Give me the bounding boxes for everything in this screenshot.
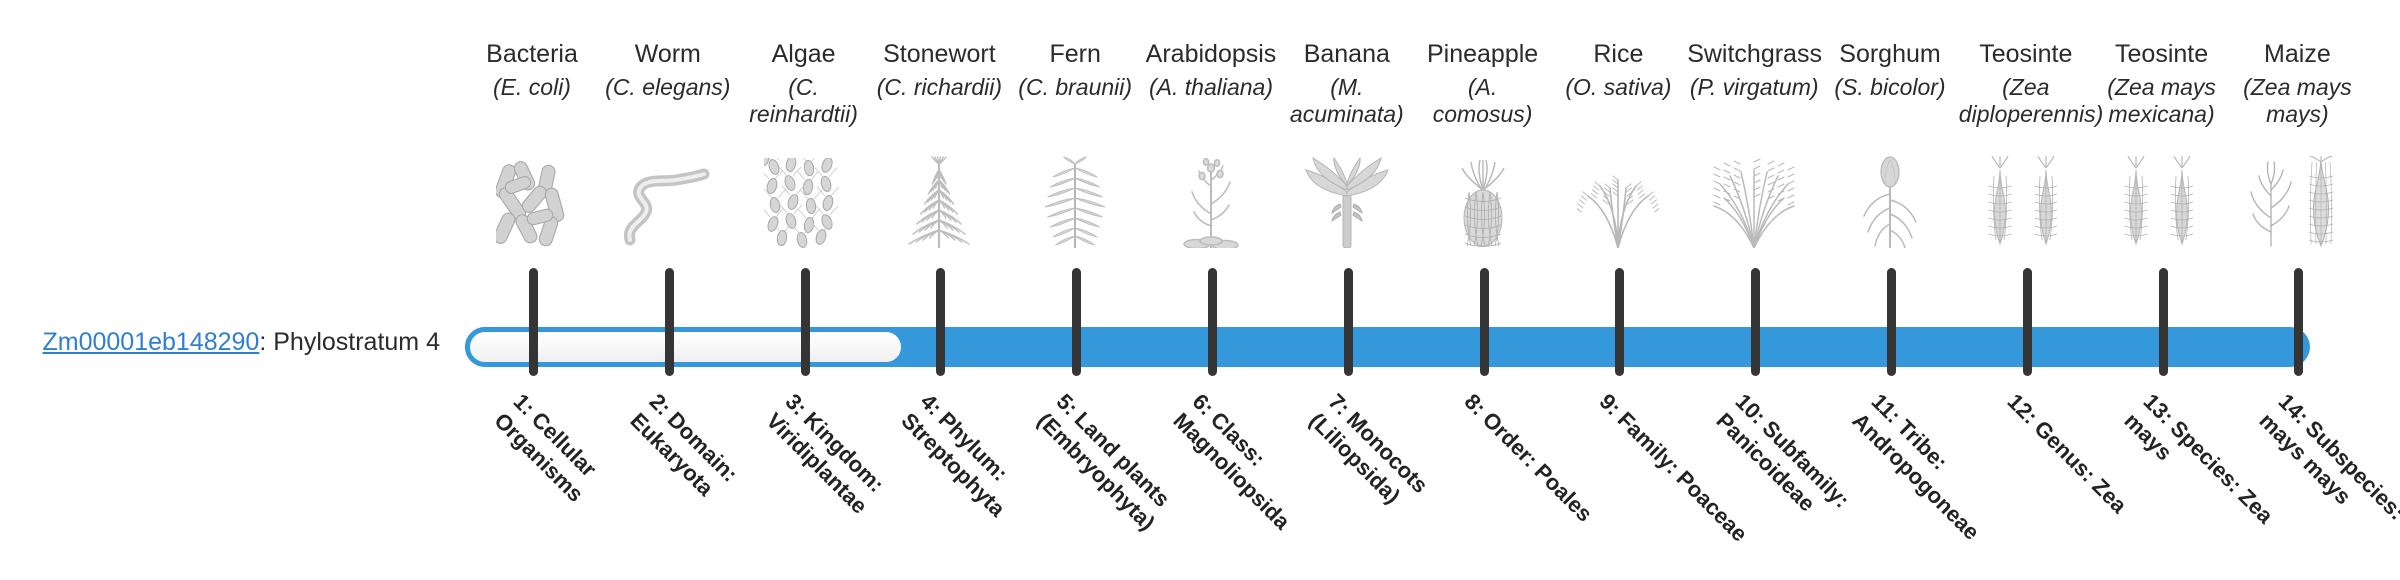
stonewort-icon [872,158,1006,248]
rice-plant-icon [1551,158,1685,248]
teosinte-ears-icon [1959,158,2093,248]
phylostratum-tick-3[interactable] [801,268,810,376]
organism-scientific-name: (O. sativa) [1551,74,1685,101]
phylostratum-tick-12[interactable] [2023,268,2032,376]
maize-ear-icon [2230,158,2364,248]
sorghum-icon [1823,158,1957,248]
organism-scientific-name: (P. virgatum) [1687,74,1821,101]
phylostratum-column-9: Rice(O. sativa) 9: Family: Poaceae [1551,0,1685,580]
fern-frond-icon [1008,158,1142,248]
organism-scientific-name: (A. comosus) [1416,74,1550,128]
gene-label-separator: : [259,328,273,356]
phylostratum-column-10: Switchgrass(P. virgatum) 10: Subfamily: … [1687,0,1821,580]
organism-common-name: Stonewort [872,40,1006,69]
phylostratum-tick-11[interactable] [1887,268,1896,376]
organism-common-name: Teosinte [1959,40,2093,69]
phylostratum-tick-7[interactable] [1344,268,1353,376]
phylostratum-tick-8[interactable] [1480,268,1489,376]
organism-scientific-name: (S. bicolor) [1823,74,1957,101]
organism-common-name: Sorghum [1823,40,1957,69]
gene-id-link[interactable]: Zm00001eb148290 [42,328,259,356]
phylostratum-tick-2[interactable] [665,268,674,376]
organism-scientific-name: (C. reinhardtii) [737,74,871,128]
phylostratum-tick-14[interactable] [2294,268,2303,376]
phylostratum-tick-5[interactable] [1072,268,1081,376]
phylostratum-column-3: Algae(C. reinhardtii) 3: Kingdom: Viridi… [737,0,871,580]
organism-scientific-name: (Zea mays mays) [2230,74,2364,128]
organism-common-name: Algae [737,40,871,69]
organism-scientific-name: (C. braunii) [1008,74,1142,101]
phylostratum-tick-9[interactable] [1615,268,1624,376]
organism-common-name: Bacteria [465,40,599,69]
phylostratum-column-13: Teosinte(Zea mays mexicana) [2095,0,2229,580]
phylostratum-column-4: Stonewort(C. richardii) 4: Phylum: Strep… [872,0,1006,580]
pineapple-icon [1416,158,1550,248]
algae-cells-icon [737,158,871,248]
phylostratum-column-7: Banana(M. acuminata) 7: Monocots (Liliop… [1280,0,1414,580]
bacteria-icon [465,158,599,248]
banana-plant-icon [1280,158,1414,248]
organism-common-name: Maize [2230,40,2364,69]
phylostratum-column-2: Worm(C. elegans) 2: Domain: Eukaryota [601,0,735,580]
phylostratum-column-12: Teosinte(Zea diploperennis) [1959,0,2093,580]
phylostratum-column-5: Fern(C. braunii) 5: Land pl [1008,0,1142,580]
organism-common-name: Switchgrass [1687,40,1821,69]
organism-common-name: Banana [1280,40,1414,69]
switchgrass-icon [1687,158,1821,248]
phylostratum-column-14: Maize(Zea mays mays) 14: Subspecies: Zea… [2230,0,2364,580]
organism-scientific-name: (C. richardii) [872,74,1006,101]
organism-scientific-name: (A. thaliana) [1144,74,1278,101]
organism-common-name: Pineapple [1416,40,1550,69]
organism-common-name: Rice [1551,40,1685,69]
nematode-worm-icon [601,158,735,248]
organism-scientific-name: (E. coli) [465,74,599,101]
organism-common-name: Worm [601,40,735,69]
phylostratum-tick-13[interactable] [2159,268,2168,376]
phylostratum-value-text: Phylostratum 4 [273,328,440,356]
phylostratum-tick-10[interactable] [1751,268,1760,376]
phylostratum-label-14: 14: Subspecies: Zea mays mays [2254,388,2400,578]
phylostratum-figure: Zm00001eb148290: Phylostratum 4 Bacteria… [0,0,2400,580]
phylostratum-column-11: Sorghum(S. bicolor) 11: Tribe: Andropogo… [1823,0,1957,580]
phylostratum-column-8: Pineapple(A. comosus) 8: Order: Poales [1416,0,1550,580]
organism-common-name: Teosinte [2095,40,2229,69]
organism-common-name: Fern [1008,40,1142,69]
phylostratum-tick-4[interactable] [936,268,945,376]
teosinte-ears-icon [2095,158,2229,248]
gene-phylostratum-label: Zm00001eb148290: Phylostratum 4 [0,327,440,357]
phylostratum-tick-1[interactable] [529,268,538,376]
organism-common-name: Arabidopsis [1144,40,1278,69]
phylostratum-tick-6[interactable] [1208,268,1217,376]
phylostratum-column-6: Arabidopsis(A. thaliana) 6: Class: Magno… [1144,0,1278,580]
organism-scientific-name: (C. elegans) [601,74,735,101]
organism-scientific-name: (Zea mays mexicana) [2095,74,2229,128]
organism-scientific-name: (M. acuminata) [1280,74,1414,128]
arabidopsis-icon [1144,158,1278,248]
organism-scientific-name: (Zea diploperennis) [1959,74,2093,128]
phylostratum-column-1: Bacteria(E. coli) 1: Cellular Organisms [465,0,599,580]
